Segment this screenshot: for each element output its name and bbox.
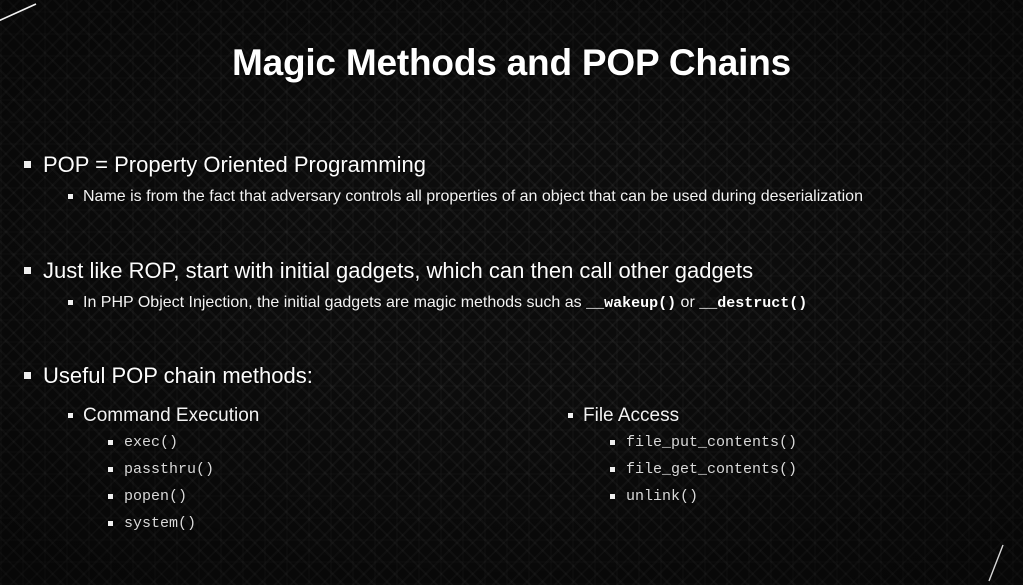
list-item: exec() [108,429,534,456]
bullet-level1-text: Just like ROP, start with initial gadget… [43,256,1023,286]
bullet-level2-text: In PHP Object Injection, the initial gad… [83,292,1023,315]
code-destruct: __destruct() [699,295,807,312]
bullet-group-useful-methods: Useful POP chain methods: Command Execut… [0,361,1023,537]
spacer [0,315,1023,361]
bullet-square-icon [24,267,31,274]
bullet-level1-text: POP = Property Oriented Programming [43,150,1023,180]
bullet-level1: Useful POP chain methods: [24,361,1023,391]
bullet-square-icon [24,372,31,379]
bullet-square-icon [610,467,615,472]
bullet-level1-text: Useful POP chain methods: [43,361,1023,391]
bullet-square-icon [610,440,615,445]
list-item: system() [108,510,534,537]
column-file-access: File Access file_put_contents() file_get… [534,403,1023,537]
bullet-square-icon [108,440,113,445]
bullet-square-icon [68,300,73,305]
bullet-square-icon [68,194,73,199]
list-item: unlink() [610,483,1023,510]
presentation-slide: Magic Methods and POP Chains POP = Prope… [0,0,1023,585]
bullet-level1: Just like ROP, start with initial gadget… [24,256,1023,286]
column-command-execution: Command Execution exec() passthru() [0,403,534,537]
method-name: exec() [124,429,534,456]
list-item: popen() [108,483,534,510]
magic-methods-middle-text: or [676,294,699,311]
column-heading: File Access [568,403,1023,429]
bullet-square-icon [108,467,113,472]
bullet-group-pop-definition: POP = Property Oriented Programming Name… [0,150,1023,208]
bullet-level2: In PHP Object Injection, the initial gad… [68,292,1023,315]
bullet-group-rop-analogy: Just like ROP, start with initial gadget… [0,256,1023,315]
column-heading: Command Execution [68,403,534,429]
bullet-level2-text: Name is from the fact that adversary con… [83,186,928,208]
list-item: file_put_contents() [610,429,1023,456]
method-name: popen() [124,483,534,510]
slide-content: Magic Methods and POP Chains POP = Prope… [0,0,1023,585]
slide-title: Magic Methods and POP Chains [0,42,1023,84]
magic-methods-prefix-text: In PHP Object Injection, the initial gad… [83,294,586,311]
bullet-square-icon [568,413,573,418]
method-name: unlink() [626,483,1023,510]
bullet-square-icon [68,413,73,418]
list-item: file_get_contents() [610,456,1023,483]
slide-body: POP = Property Oriented Programming Name… [0,150,1023,537]
bullet-square-icon [108,494,113,499]
method-name: file_put_contents() [626,429,1023,456]
code-wakeup: __wakeup() [586,295,676,312]
list-item: passthru() [108,456,534,483]
bullet-square-icon [610,494,615,499]
method-name: file_get_contents() [626,456,1023,483]
two-column-method-lists: Command Execution exec() passthru() [0,403,1023,537]
bullet-level1: POP = Property Oriented Programming [24,150,1023,180]
column-heading-text: Command Execution [83,403,534,429]
method-name: passthru() [124,456,534,483]
spacer [0,208,1023,256]
column-heading-text: File Access [583,403,1023,429]
method-name: system() [124,510,534,537]
bullet-square-icon [108,521,113,526]
bullet-square-icon [24,161,31,168]
bullet-level2: Name is from the fact that adversary con… [68,186,928,208]
